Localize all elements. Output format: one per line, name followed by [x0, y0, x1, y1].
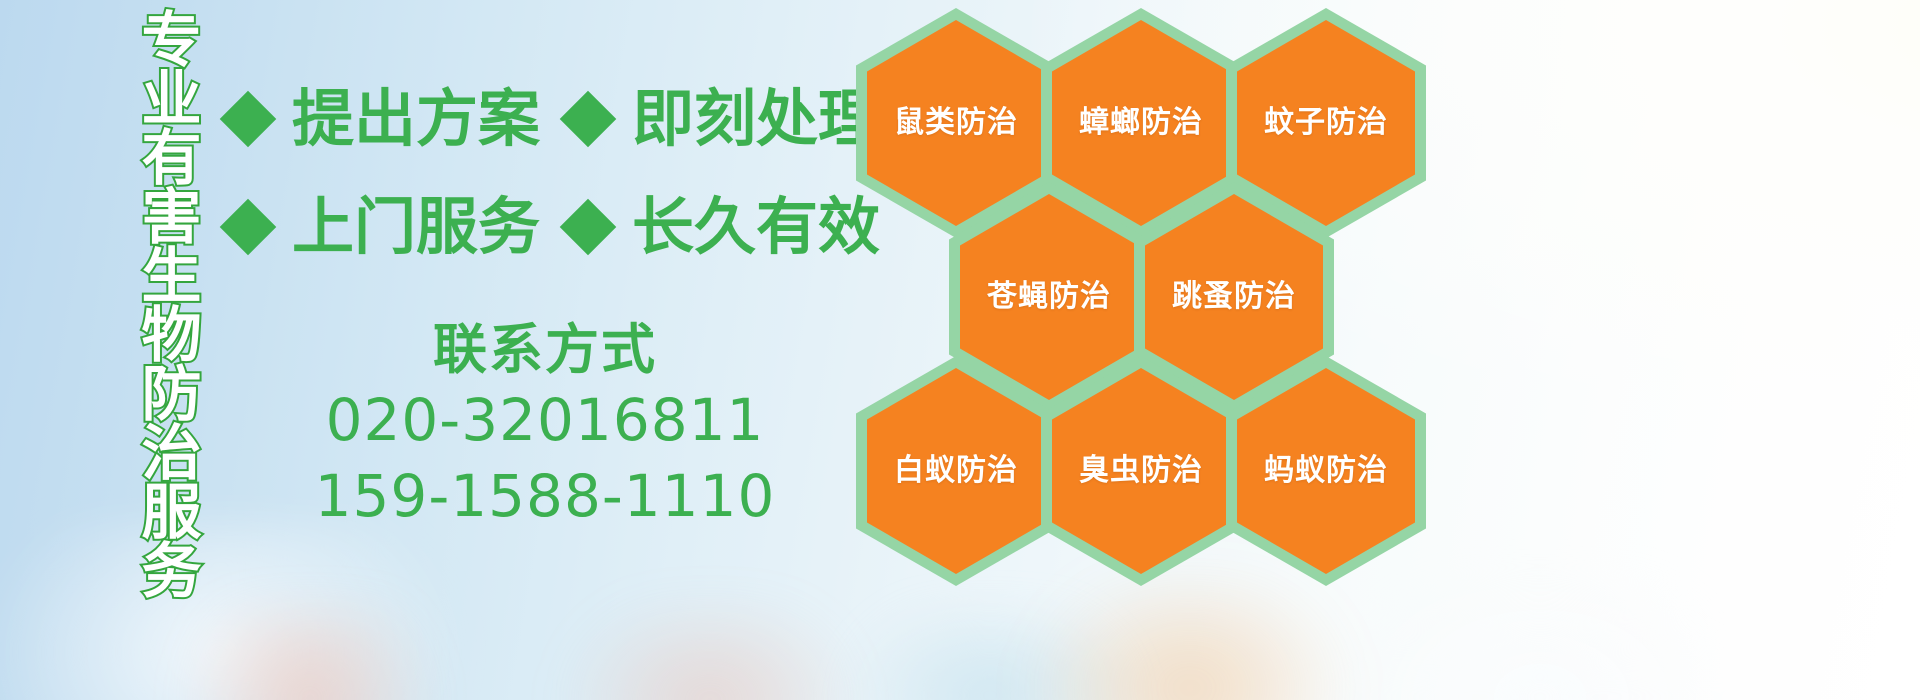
- service-honeycomb: 鼠类防治 蟑螂防治 蚊子防治 苍蝇防治 跳蚤防治 白蚁防治: [856, 0, 1476, 600]
- feature-item-propose-plan: 提出方案: [292, 88, 540, 150]
- phone-number-mobile[interactable]: 159-1588-1110: [250, 458, 840, 535]
- hex-label: 蚂蚁防治: [1226, 456, 1426, 486]
- hex-cell-ant-control[interactable]: 蚂蚁防治: [1226, 356, 1426, 586]
- hex-label: 蚊子防治: [1226, 108, 1426, 138]
- hex-cell-bedbug-control[interactable]: 臭虫防治: [1041, 356, 1241, 586]
- hex-label: 跳蚤防治: [1134, 282, 1334, 312]
- contact-title: 联系方式: [250, 318, 840, 382]
- feature-item-door-to-door-service: 上门服务: [292, 196, 540, 258]
- diamond-icon: [220, 91, 277, 148]
- hex-label: 臭虫防治: [1041, 456, 1241, 486]
- vertical-headline: 专业有害生物防治服务: [104, 8, 196, 598]
- banner-canvas: 专业有害生物防治服务 提出方案 即刻处理 上门服务 长久有效 联系方式 020-…: [0, 0, 1920, 700]
- hex-label: 白蚁防治: [856, 456, 1056, 486]
- diamond-icon: [560, 199, 617, 256]
- feature-row-1: 提出方案 即刻处理: [228, 88, 880, 150]
- hex-label: 蟑螂防治: [1041, 108, 1241, 138]
- contact-block: 联系方式 020-32016811 159-1588-1110: [250, 318, 840, 535]
- background-blur-highlight-3: [560, 610, 860, 700]
- feature-item-immediate-handling: 即刻处理: [632, 88, 880, 150]
- hex-label: 苍蝇防治: [949, 282, 1149, 312]
- diamond-icon: [220, 199, 277, 256]
- background-blur-highlight-2: [180, 610, 440, 700]
- feature-item-long-lasting-effect: 长久有效: [632, 196, 880, 258]
- feature-row-2: 上门服务 长久有效: [228, 196, 880, 258]
- phone-number-landline[interactable]: 020-32016811: [250, 382, 840, 459]
- diamond-icon: [560, 91, 617, 148]
- hex-cell-termite-control[interactable]: 白蚁防治: [856, 356, 1056, 586]
- hex-label: 鼠类防治: [856, 108, 1056, 138]
